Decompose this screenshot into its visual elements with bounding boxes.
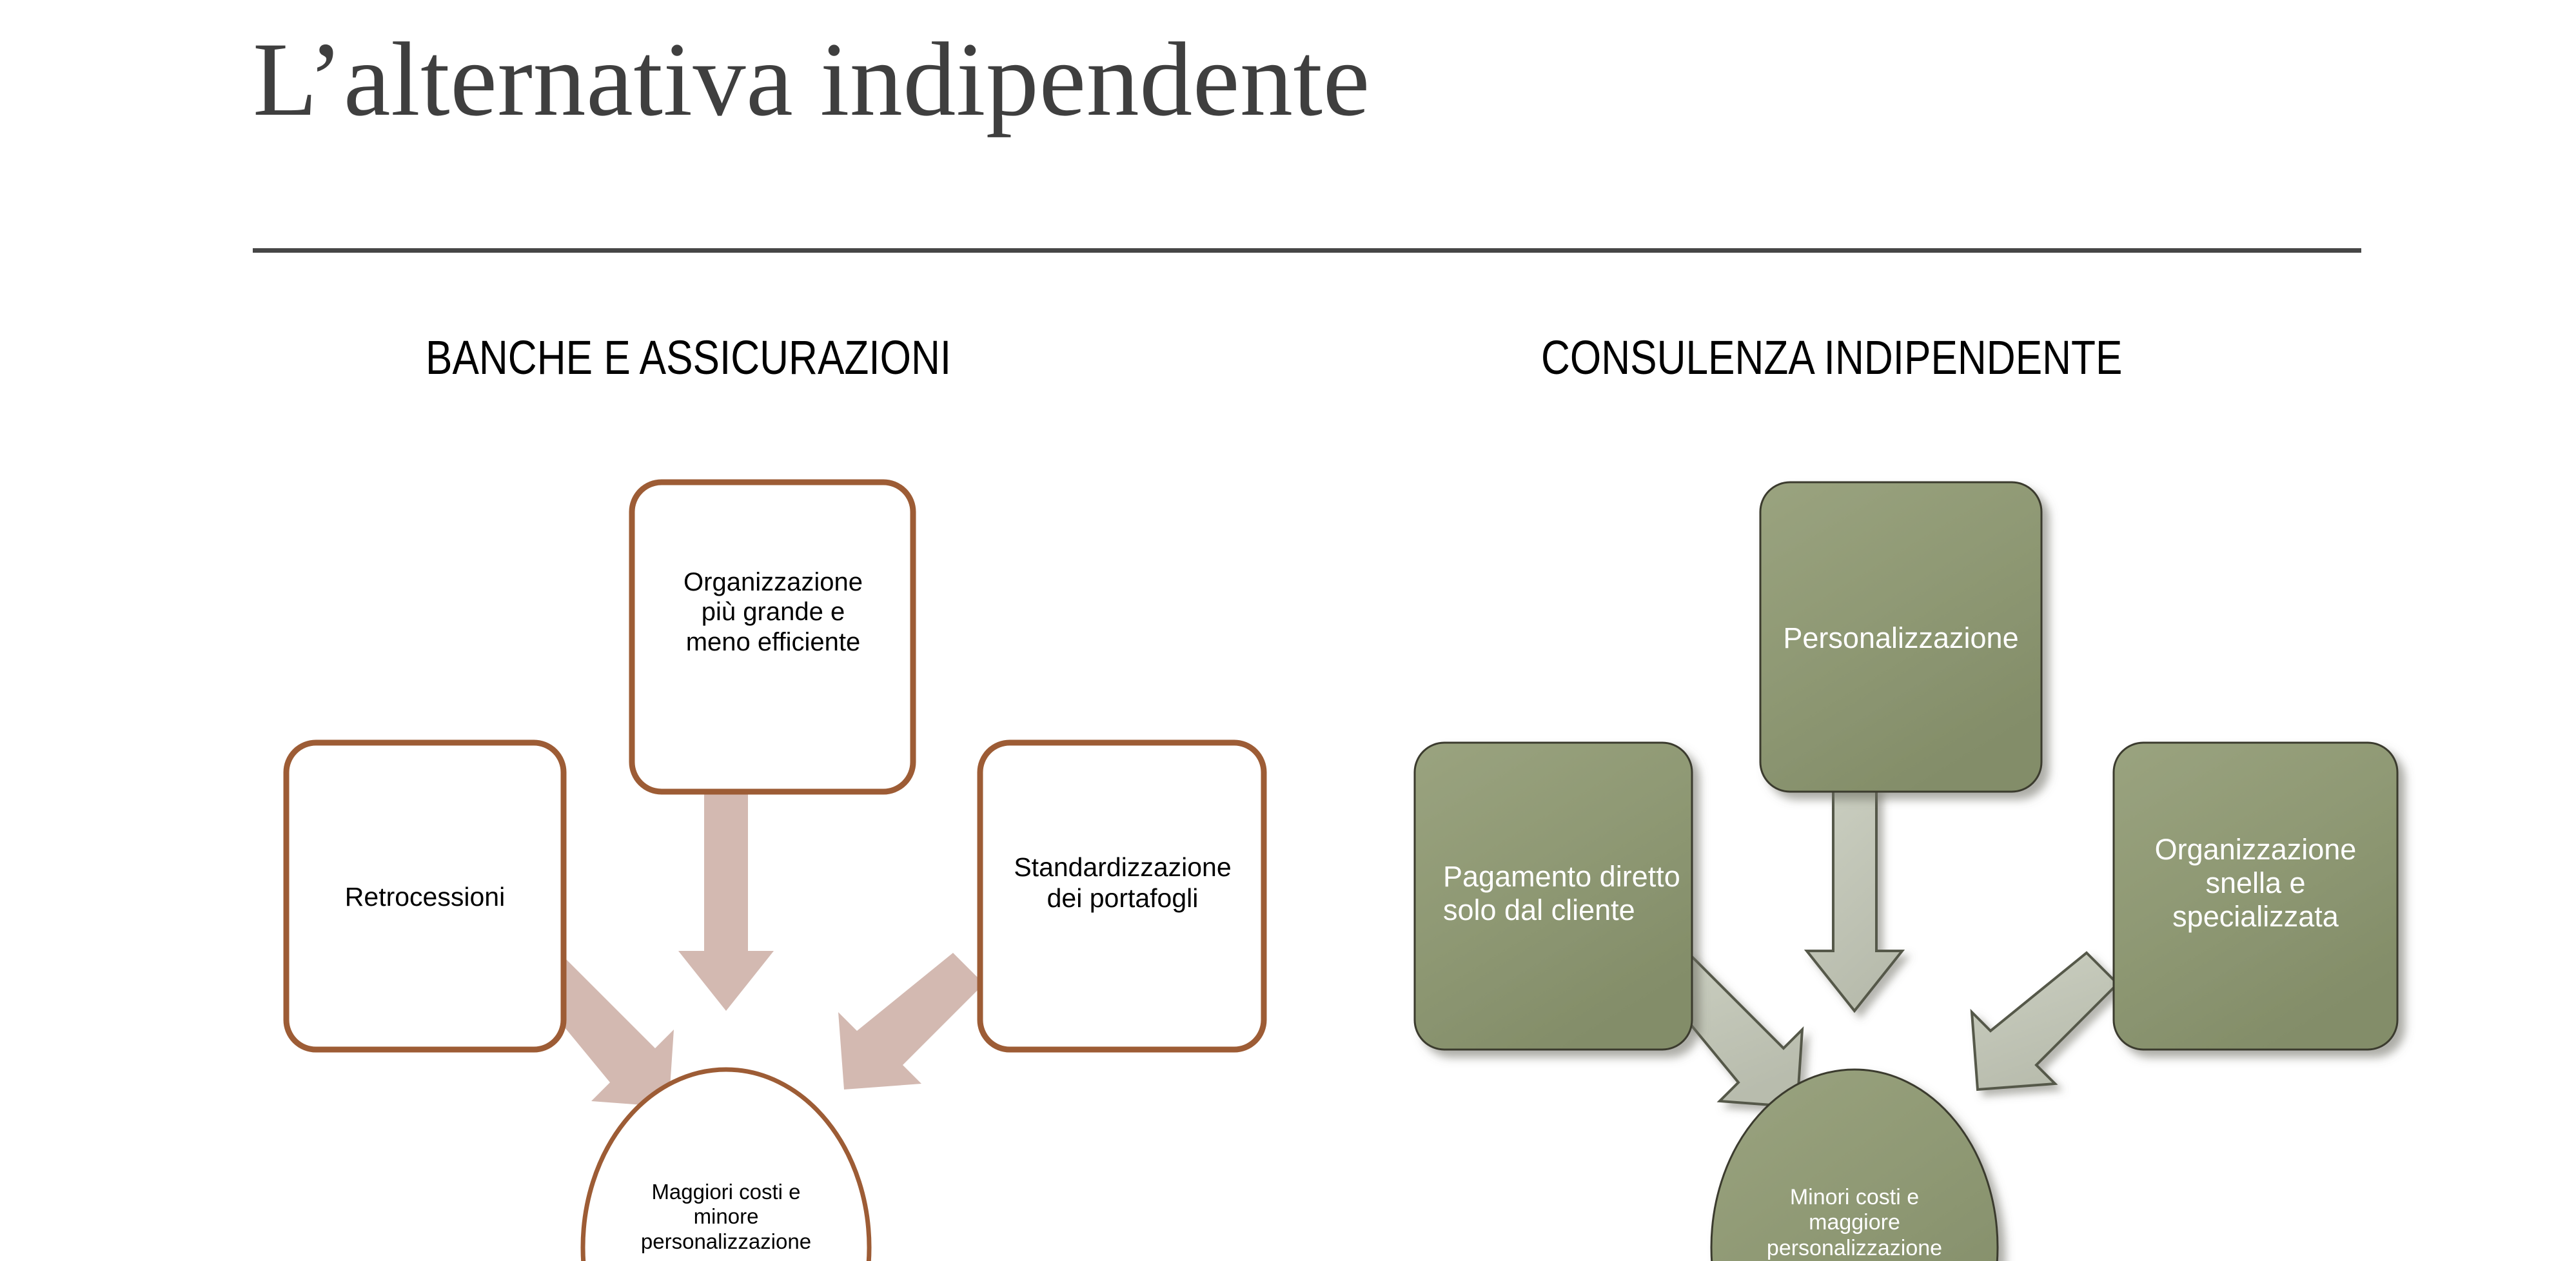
- column-heading-banks: BANCHE E ASSICURAZIONI: [426, 334, 951, 382]
- title-divider: [253, 248, 2361, 253]
- diagram-banks: Organizzazione più grande e meno efficie…: [258, 445, 1186, 1109]
- diagram-independent-svg: [1386, 445, 2321, 1109]
- page-title: L’alternativa indipendente: [253, 27, 1370, 133]
- column-heading-independent: CONSULENZA INDIPENDENTE: [1541, 334, 2122, 382]
- arrow-top-to-result: [678, 787, 774, 1011]
- arrow-right-to-result: [1972, 953, 2118, 1090]
- node-top-box: [632, 482, 913, 792]
- slide-canvas: L’alternativa indipendente BANCHE E ASSI…: [0, 0, 2576, 1200]
- diagram-independent: Personalizzazione Pagamento diretto solo…: [1386, 445, 2321, 1109]
- node-left-box: [1415, 743, 1692, 1050]
- arrow-top-to-result: [1807, 787, 1902, 1011]
- node-left-box: [286, 743, 564, 1050]
- node-top-box: [1760, 482, 2041, 792]
- node-right-box: [980, 743, 1264, 1050]
- node-right-box: [2114, 743, 2397, 1050]
- diagram-banks-svg: [258, 445, 1186, 1109]
- arrow-right-to-result: [838, 953, 984, 1090]
